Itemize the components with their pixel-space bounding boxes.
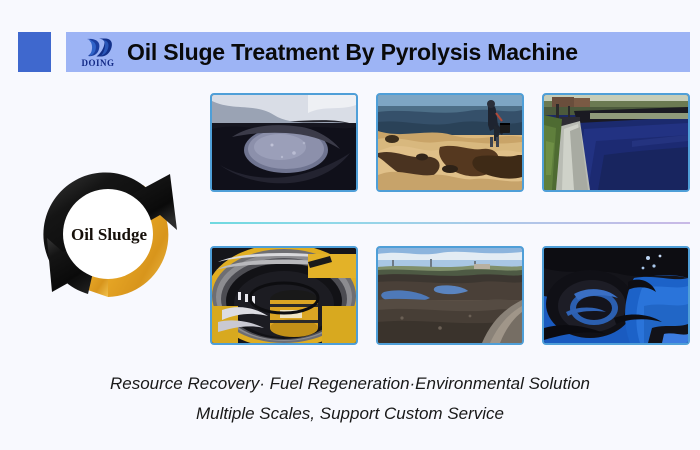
oil-sludge-cycle-diagram: Oil Sludge — [22, 152, 194, 317]
oil-contaminated-beach-photo[interactable] — [376, 93, 524, 192]
page-title: Oil Sluge Treatment By Pyrolysis Machine — [127, 39, 578, 66]
slide-canvas: DOING Oil Sluge Treatment By Pyrolysis M… — [0, 0, 700, 450]
tagline-line-2: Multiple Scales, Support Custom Service — [0, 404, 700, 424]
section-divider — [210, 222, 690, 224]
oil-pond-concrete-photo[interactable] — [542, 93, 690, 192]
oil-sludge-pit-photo[interactable] — [210, 93, 358, 192]
sludge-lagoon-landscape-photo[interactable] — [376, 246, 524, 345]
recycle-cycle-icon — [22, 152, 194, 317]
yellow-tank-interior-photo[interactable] — [210, 246, 358, 345]
tagline-line-1: Resource Recovery· Fuel Regeneration·Env… — [0, 374, 700, 394]
doing-logo-icon: DOING — [76, 34, 120, 70]
header-banner: DOING Oil Sluge Treatment By Pyrolysis M… — [66, 32, 690, 72]
oil-tank-inside-photo[interactable] — [542, 246, 690, 345]
header-accent-block — [18, 32, 51, 72]
brand-wordmark: DOING — [81, 59, 114, 68]
